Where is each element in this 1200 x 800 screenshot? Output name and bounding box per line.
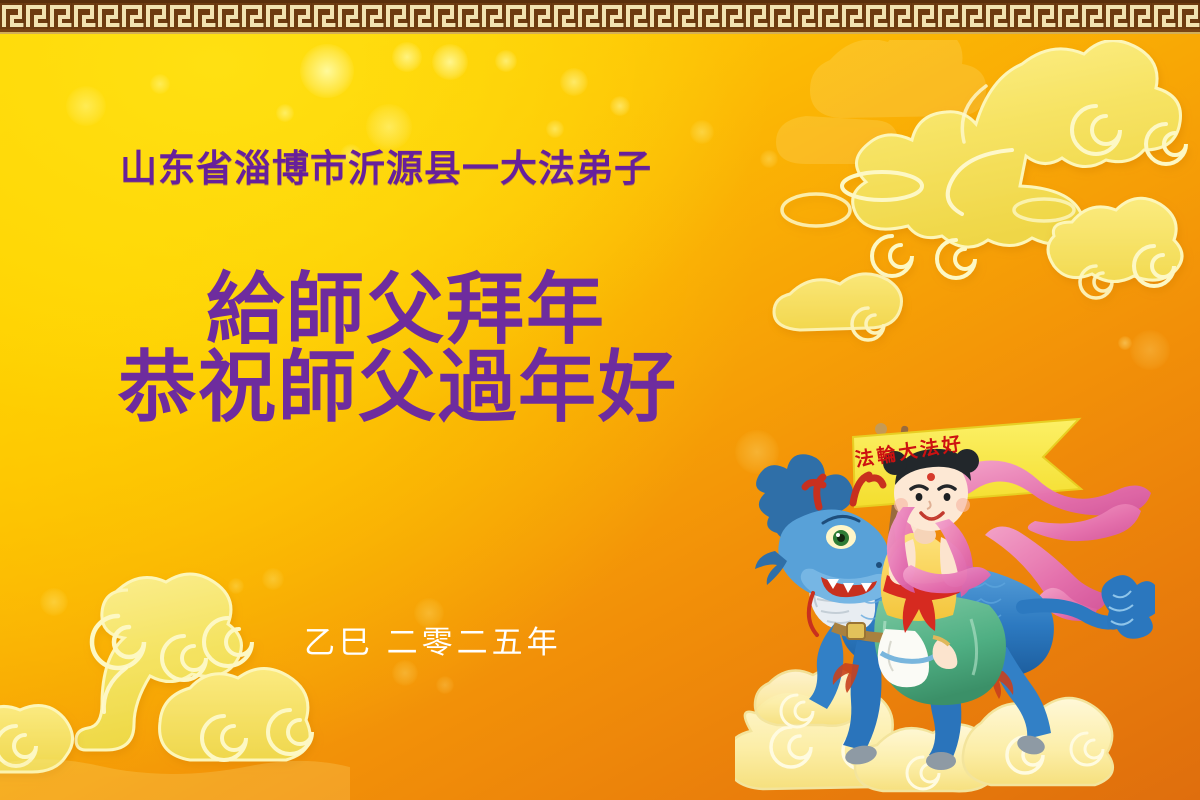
bokeh-light <box>40 588 68 616</box>
bokeh-light <box>66 86 106 126</box>
bokeh-light <box>760 150 778 168</box>
bokeh-light <box>432 44 468 80</box>
cloud-top-right <box>760 40 1200 360</box>
cloud-bottom-left <box>0 560 350 800</box>
bokeh-light <box>300 44 354 98</box>
child-riding-dragon-illustration <box>735 415 1155 800</box>
new-year-greeting-card: 法輪大法好 <box>0 0 1200 800</box>
bokeh-light <box>150 74 170 94</box>
bokeh-light <box>495 50 517 72</box>
bokeh-light <box>546 120 564 138</box>
greeting-line-2: 恭祝師父過年好 <box>118 348 678 426</box>
bokeh-light <box>392 42 422 72</box>
greek-key-border <box>0 0 1200 34</box>
bokeh-light <box>690 120 714 144</box>
bokeh-light <box>1130 330 1170 370</box>
date-line: 乙巳 二零二五年 <box>304 617 562 662</box>
bokeh-light <box>392 660 418 686</box>
bokeh-light <box>1118 336 1132 350</box>
bokeh-light <box>436 676 454 694</box>
greeting-line-1: 給師父拜年 <box>206 270 606 348</box>
bokeh-light <box>228 578 244 594</box>
bokeh-light <box>560 68 588 96</box>
bokeh-light <box>276 104 294 122</box>
bokeh-light <box>610 96 630 116</box>
bokeh-light <box>262 568 284 590</box>
organization-line: 山东省淄博市沂源县一大法弟子 <box>120 138 652 192</box>
